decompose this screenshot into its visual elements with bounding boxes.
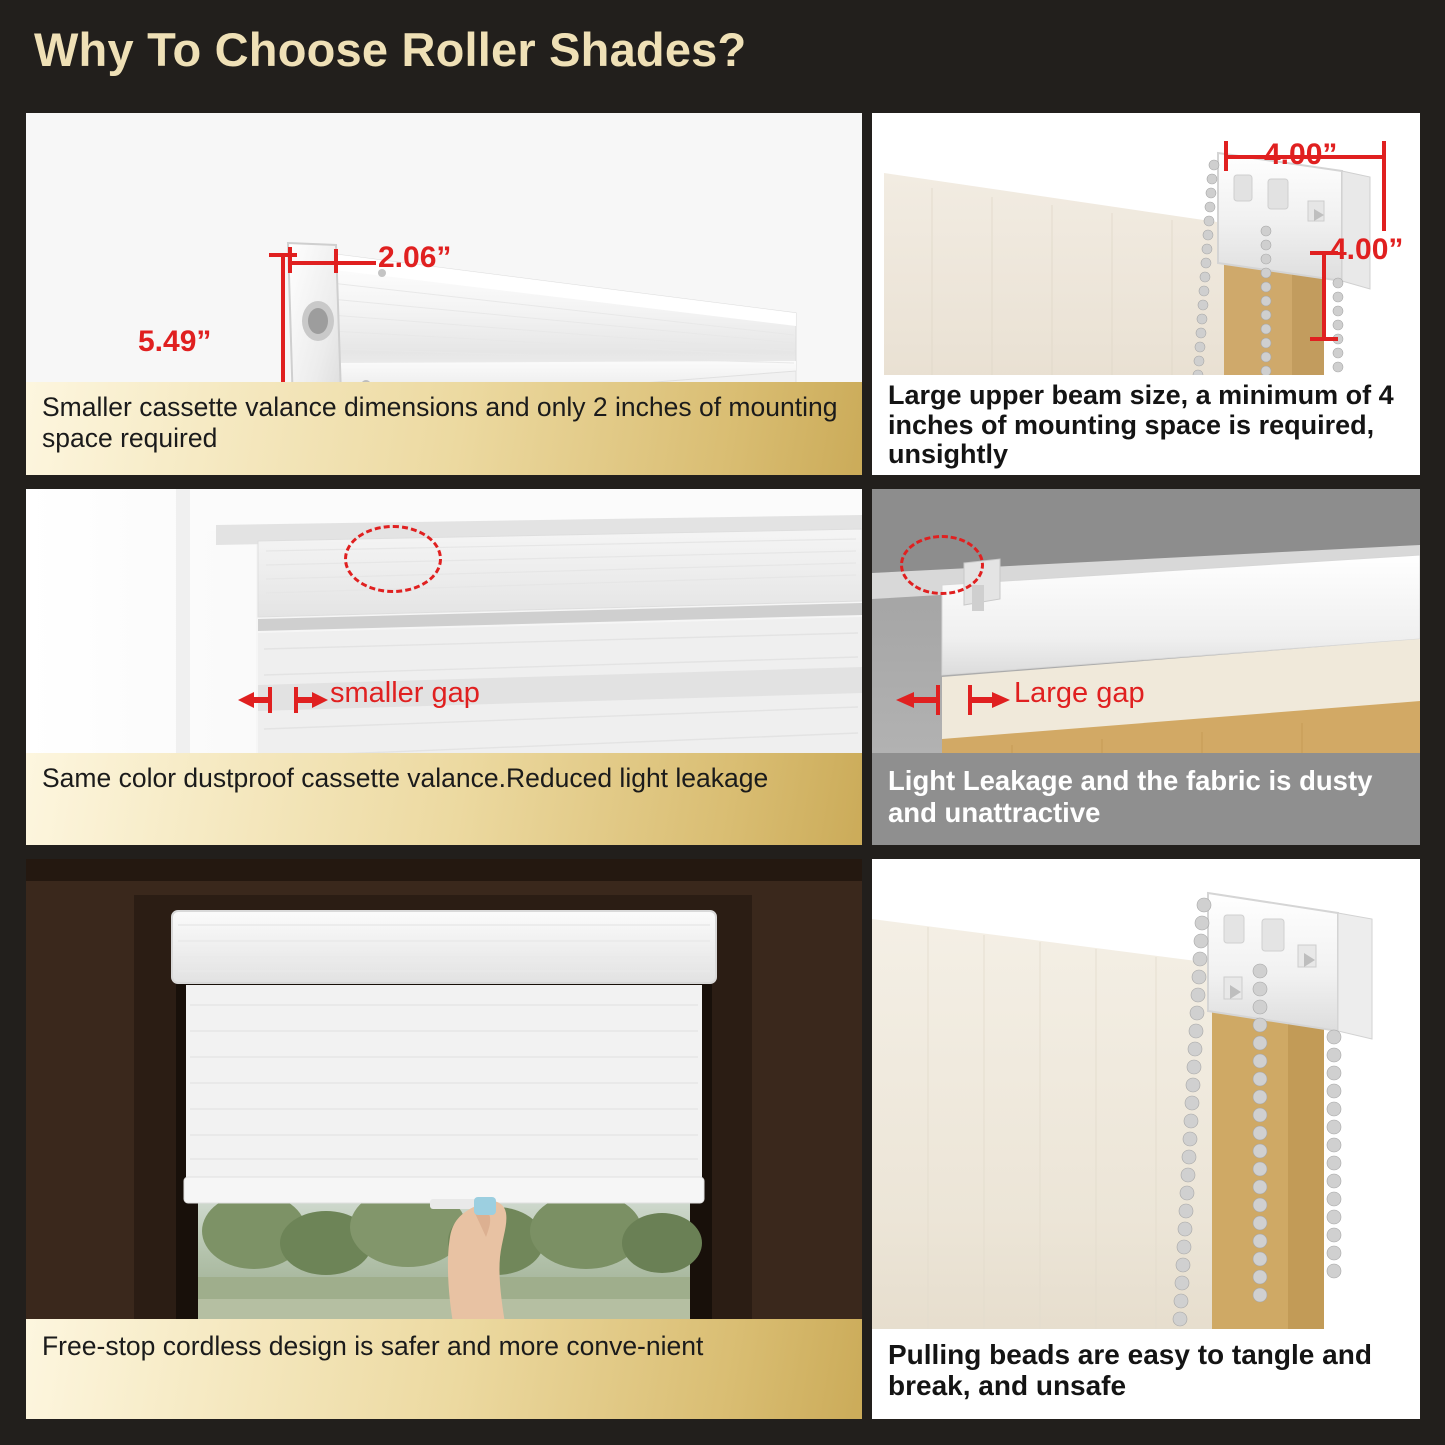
card-light-leakage: Large gap Light Leakage and the fabric i… [872,489,1420,845]
card-caption: Same color dustproof cassette valance.Re… [26,753,862,845]
gap-arrow-right-icon [970,689,1010,711]
gap-label: smaller gap [330,677,480,710]
width-dimension-label: 2.06” [378,241,451,275]
height-dimension-tick-top [269,253,297,257]
card-cordless-design: Free-stop cordless design is safer and m… [26,859,862,1419]
card-pulling-beads: Pulling beads are easy to tangle and bre… [872,859,1420,1419]
gap-highlight-ellipse [344,525,442,593]
gap-label: Large gap [1014,677,1145,710]
gap-highlight-ellipse [900,535,984,595]
card-caption: Free-stop cordless design is safer and m… [26,1319,862,1419]
card-dustproof-cassette: smaller gap Same color dustproof cassett… [26,489,862,845]
height-dimension-label: 5.49” [138,325,211,359]
beam-depth-label: 4.00” [1330,233,1403,267]
card-caption: Light Leakage and the fabric is dusty an… [872,753,1420,845]
width-dimension-tick-left [288,247,292,273]
beam-width-label: 4.00” [1264,138,1337,172]
card-cassette-dimensions: 2.06” 5.49” Smaller cassette valance dim… [26,113,862,475]
beam-depth-line [1322,251,1326,341]
gap-arrow-left-icon [238,689,272,711]
card-caption: Smaller cassette valance dimensions and … [26,382,862,475]
card-caption: Large upper beam size, a minimum of 4 in… [872,375,1420,475]
width-dimension-line [288,261,376,265]
page-title: Why To Choose Roller Shades? [34,22,746,77]
width-dimension-tick-right [334,249,338,273]
beam-depth-tick-bottom [1310,337,1338,341]
gap-arrow-left-icon [896,689,936,711]
beam-width-tick-right [1382,141,1386,231]
beam-width-tick-left [1224,141,1228,171]
gap-tick-left [936,685,940,715]
card-large-upper-beam: 4.00” 4.00” Large upper beam size, a min… [872,113,1420,475]
card-caption: Pulling beads are easy to tangle and bre… [872,1329,1420,1419]
gap-arrow-right-icon [294,689,328,711]
infographic-page: Why To Choose Roller Shades? [0,0,1445,1445]
